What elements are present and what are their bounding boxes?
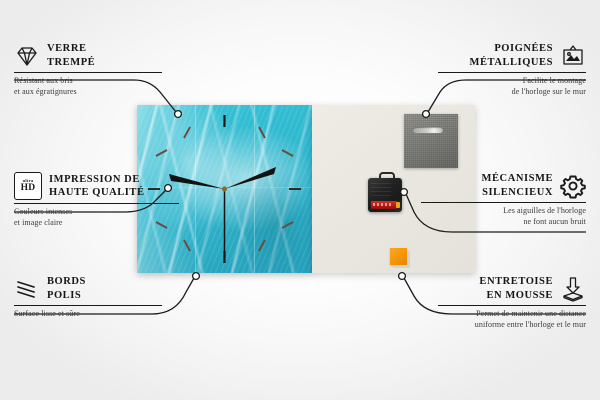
feature-sub-line2: de l'horloge sur le mur (426, 87, 586, 98)
feature-rule (438, 305, 586, 306)
wire-endpoint-mecanisme (401, 189, 408, 196)
feature-bords-polis: BORDS POLIS Surface lisse et sûre (14, 275, 174, 320)
feature-sub-line2: et aux égratignures (14, 87, 174, 98)
hd-badge-main-text: HD (21, 184, 36, 194)
ultra-hd-badge-icon: ultra HD (14, 172, 42, 200)
feature-sub-line1: Surface lisse et sûre (14, 309, 174, 320)
feature-poignees-metalliques: POIGNÉES MÉTALLIQUES Facilite le montage… (426, 42, 586, 97)
feature-title-line1: ENTRETOISE (479, 275, 553, 289)
diamond-icon (14, 43, 40, 69)
feature-sub-line1: Permet de maintenir une distance (426, 309, 586, 320)
feature-rule (14, 72, 162, 73)
feature-entretoise-en-mousse: ENTRETOISE EN MOUSSE Permet de maintenir… (426, 275, 586, 330)
feature-sub-line2: et image claire (14, 218, 190, 229)
feature-title-line2: MÉTALLIQUES (470, 56, 553, 70)
feature-title-line1: VERRE (47, 42, 95, 56)
wire-endpoint-poignees (423, 111, 430, 118)
wall-mount-frame-icon (560, 43, 586, 69)
feature-title-line1: IMPRESSION DE (49, 173, 145, 187)
feature-title-line2: TREMPÉ (47, 56, 95, 70)
feature-sub-line1: Les aiguilles de l'horloge (410, 206, 586, 217)
infographic-canvas: VERRE TREMPÉ Résistant aux bris et aux é… (0, 0, 600, 400)
foam-spacer-press-icon (560, 276, 586, 302)
gear-icon (560, 173, 586, 199)
feature-impression-haute-qualite: ultra HD IMPRESSION DE HAUTE QUALITÉ Cou… (14, 172, 190, 228)
feature-mecanisme-silencieux: MÉCANISME SILENCIEUX Les aiguilles de l'… (410, 172, 586, 227)
wire-endpoint-entretoise (399, 273, 406, 280)
feature-sub-line2: uniforme entre l'horloge et le mur (426, 320, 586, 331)
feature-rule (438, 72, 586, 73)
feature-title-line2: POLIS (47, 289, 86, 303)
wire-endpoint-verre (175, 111, 182, 118)
feature-title-line2: SILENCIEUX (482, 186, 553, 200)
feature-title-line2: HAUTE QUALITÉ (49, 186, 145, 200)
feature-verre-trempe: VERRE TREMPÉ Résistant aux bris et aux é… (14, 42, 174, 97)
polished-edges-icon (14, 276, 40, 302)
feature-rule (421, 202, 586, 203)
feature-title-line2: EN MOUSSE (479, 289, 553, 303)
feature-sub-line2: ne font aucun bruit (410, 217, 586, 228)
feature-sub-line1: Résistant aux bris (14, 76, 174, 87)
feature-rule (14, 305, 162, 306)
feature-title-line1: BORDS (47, 275, 86, 289)
feature-rule (14, 203, 179, 204)
feature-title-line1: MÉCANISME (482, 172, 553, 186)
feature-sub-line1: Couleurs intenses (14, 207, 190, 218)
wire-endpoint-bords (193, 273, 200, 280)
feature-title-line1: POIGNÉES (470, 42, 553, 56)
feature-sub-line1: Facilite le montage (426, 76, 586, 87)
